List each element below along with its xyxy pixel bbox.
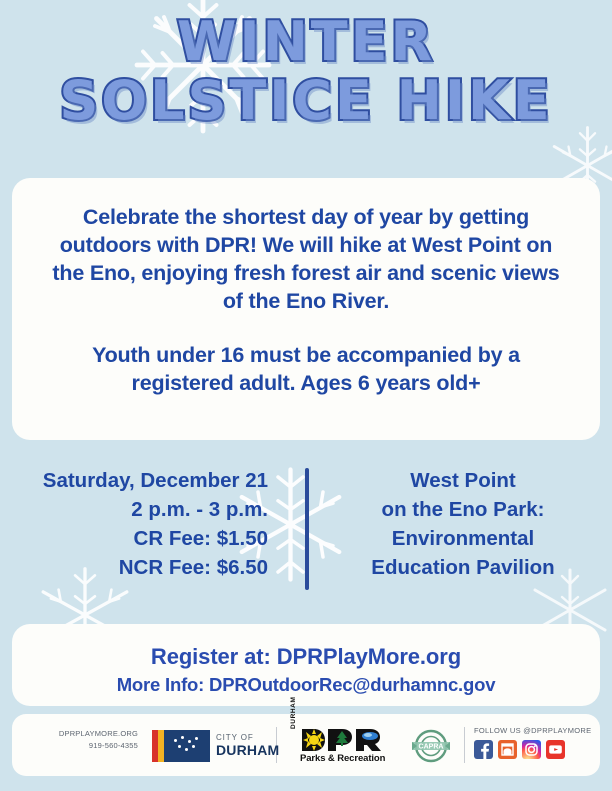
winter-solstice-hike-flyer: WINTER SOLSTICE HIKE Celebrate the short… [0, 0, 612, 791]
title-line-solstice-hike: SOLSTICE HIKE [0, 73, 612, 128]
social-icons-row [474, 740, 594, 759]
flyer-title: WINTER SOLSTICE HIKE [0, 14, 612, 128]
location-line-3: Environmental [318, 524, 608, 553]
city-of-durham-logo: CITY OF DURHAM [152, 730, 272, 762]
social-media-block: FOLLOW US @DPRPLAYMORE [474, 726, 594, 759]
footer-bar: DPRPLAYMORE.ORG 919-560-4355 [12, 714, 600, 776]
durham-flag-icon [152, 730, 210, 762]
registration-card: Register at: DPRPlayMore.org More Info: … [12, 624, 600, 706]
dpr-durham-label: DURHAM [290, 705, 297, 729]
description-paragraph-2: Youth under 16 must be accompanied by a … [12, 316, 600, 398]
description-paragraph-1: Celebrate the shortest day of year by ge… [12, 178, 600, 316]
location-line-1: West Point [318, 466, 608, 495]
title-line-winter: WINTER [0, 14, 612, 69]
event-location: West Point on the Eno Park: Environmenta… [318, 466, 608, 582]
dpr-tagline: Parks & Recreation [300, 753, 385, 764]
dpr-parks-recreation-logo: DURHAM [290, 728, 402, 764]
footer-divider [464, 727, 465, 763]
event-time: 2 p.m. - 3 p.m. [0, 495, 268, 524]
footer-phone: 919-560-4355 [20, 740, 138, 752]
event-cr-fee: CR Fee: $1.50 [0, 524, 268, 553]
event-details-row: Saturday, December 21 2 p.m. - 3 p.m. CR… [0, 466, 612, 596]
event-date-and-fees: Saturday, December 21 2 p.m. - 3 p.m. CR… [0, 466, 290, 582]
dpr-letters-icon [300, 728, 400, 752]
location-line-2: on the Eno Park: [318, 495, 608, 524]
svg-text:CAPRA: CAPRA [419, 744, 444, 751]
footer-contact-info: DPRPLAYMORE.ORG 919-560-4355 [20, 728, 138, 753]
details-divider [305, 468, 309, 590]
nextdoor-icon[interactable] [498, 740, 517, 759]
footer-website[interactable]: DPRPLAYMORE.ORG [20, 728, 138, 740]
youtube-icon[interactable] [546, 740, 565, 759]
location-line-4: Education Pavilion [318, 553, 608, 582]
description-card: Celebrate the shortest day of year by ge… [12, 178, 600, 440]
durham-name-label: DURHAM [216, 743, 279, 758]
follow-us-label: FOLLOW US @DPRPLAYMORE [474, 726, 594, 735]
facebook-icon[interactable] [474, 740, 493, 759]
event-date: Saturday, December 21 [0, 466, 268, 495]
instagram-icon[interactable] [522, 740, 541, 759]
event-ncr-fee: NCR Fee: $6.50 [0, 553, 268, 582]
more-info-email[interactable]: More Info: DPROutdoorRec@durhamnc.gov [12, 670, 600, 696]
capra-accreditation-logo: CAPRA [408, 728, 454, 764]
register-url[interactable]: Register at: DPRPlayMore.org [12, 624, 600, 670]
